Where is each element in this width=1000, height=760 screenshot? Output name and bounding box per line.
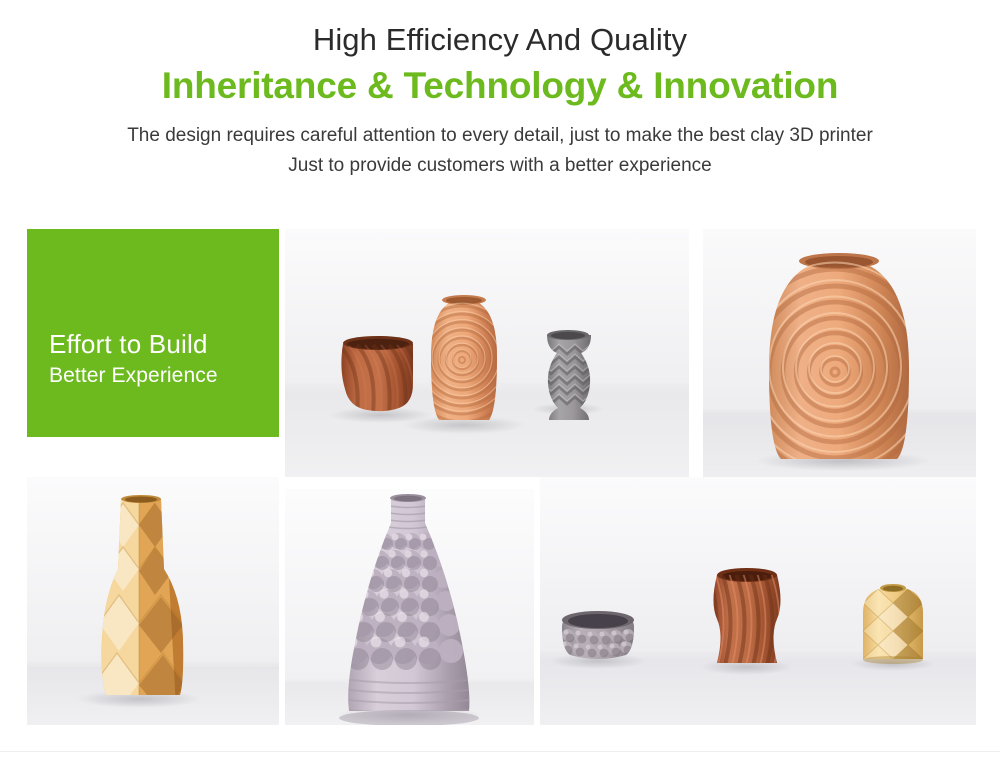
promo-panel-text: Effort to Build Better Experience (49, 329, 218, 388)
photo-egg-closeup (703, 229, 976, 477)
photo-vase-lavender-image (285, 489, 534, 725)
object-twisted-hourglass-vase (708, 568, 787, 669)
object-faceted-dome-vase (863, 584, 923, 667)
photo-trio-bottom (540, 477, 976, 725)
photo-trio-top (285, 229, 689, 477)
photo-vase-yellow (27, 477, 279, 725)
promo-panel: Effort to Build Better Experience (27, 229, 279, 437)
object-bubble-bowl (560, 611, 634, 659)
footer-divider (0, 751, 1000, 752)
photo-trio-top-image (285, 229, 689, 477)
photo-vase-lavender (285, 489, 534, 725)
promo-panel-line-2: Better Experience (49, 360, 218, 388)
photo-egg-closeup-image (703, 229, 976, 477)
promo-panel-line-1: Effort to Build (49, 329, 218, 360)
photo-trio-bottom-image (540, 477, 976, 725)
photo-vase-yellow-image (27, 477, 279, 725)
gallery-grid: Effort to Build Better Experience (0, 0, 1000, 760)
